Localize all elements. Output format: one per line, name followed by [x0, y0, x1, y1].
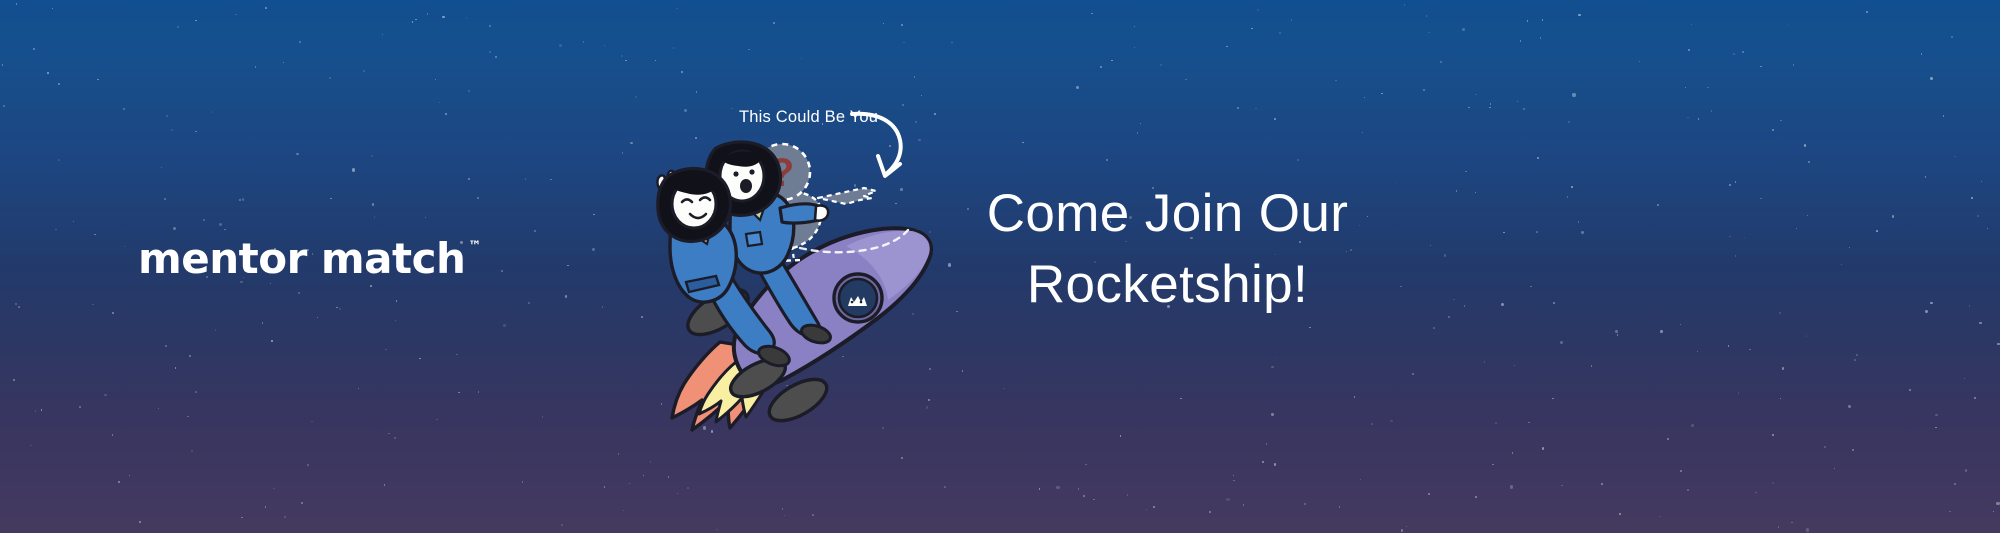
star-dot: [1780, 120, 1782, 122]
star-dot: [1146, 509, 1148, 511]
star-dot: [445, 113, 447, 115]
star-dot: [1572, 93, 1575, 96]
star-dot: [1639, 61, 1641, 63]
star-dot: [1729, 184, 1731, 186]
star-dot: [224, 229, 226, 231]
star-dot: [812, 514, 814, 516]
star-dot: [635, 96, 637, 98]
star-dot: [1484, 361, 1486, 363]
star-dot: [1921, 53, 1923, 55]
headline-line-2: Rocketship!: [905, 249, 1430, 320]
star-dot: [677, 493, 679, 495]
star-dot: [35, 410, 37, 412]
page-title: Come Join Our Rocketship!: [905, 178, 1430, 320]
star-dot: [296, 153, 298, 155]
star-dot: [883, 23, 885, 25]
star-dot: [1688, 49, 1690, 51]
star-dot: [1309, 327, 1311, 329]
star-dot: [1085, 464, 1087, 466]
star-dot: [58, 83, 60, 85]
star-dot: [565, 295, 567, 297]
star-dot: [1056, 486, 1059, 489]
star-dot: [1520, 40, 1522, 42]
star-dot: [371, 155, 373, 157]
star-dot: [1489, 107, 1491, 109]
star-dot: [97, 79, 99, 81]
star-dot: [187, 416, 189, 418]
star-dot: [1733, 53, 1735, 55]
star-dot: [1255, 108, 1257, 110]
star-dot: [1804, 144, 1806, 146]
star-dot: [189, 355, 191, 357]
star-dot: [1448, 316, 1450, 318]
star-dot: [468, 90, 470, 92]
star-dot: [1134, 26, 1136, 28]
star-dot: [1977, 215, 1979, 217]
star-dot: [382, 34, 384, 36]
star-dot: [1782, 367, 1784, 369]
star-dot: [1339, 506, 1341, 508]
star-dot: [696, 91, 698, 93]
star-dot: [242, 198, 244, 200]
star-dot: [1687, 489, 1689, 491]
star-dot: [668, 476, 670, 478]
star-dot: [298, 292, 300, 294]
star-dot: [1257, 9, 1259, 11]
star-dot: [299, 41, 301, 43]
star-dot: [1791, 522, 1793, 524]
star-dot: [1954, 483, 1956, 485]
star-dot: [1185, 79, 1187, 81]
star-dot: [1738, 392, 1740, 394]
star-dot: [1735, 181, 1737, 183]
trademark-symbol: ™: [468, 240, 481, 253]
star-dot: [370, 285, 372, 287]
star-dot: [329, 77, 331, 79]
callout-arrow-icon: [848, 108, 938, 184]
star-dot: [203, 219, 205, 221]
star-dot: [1475, 496, 1477, 498]
star-dot: [301, 502, 303, 504]
star-dot: [1735, 255, 1737, 257]
star-dot: [784, 515, 786, 517]
star-dot: [336, 307, 338, 309]
star-dot: [567, 265, 569, 267]
star-dot: [41, 409, 43, 411]
star-dot: [773, 22, 775, 24]
star-dot: [1866, 11, 1868, 13]
star-dot: [1567, 196, 1569, 198]
star-dot: [1540, 37, 1542, 39]
star-dot: [1974, 397, 1976, 399]
star-dot: [171, 129, 173, 131]
star-dot: [592, 248, 595, 251]
star-dot: [1935, 427, 1937, 429]
star-dot: [914, 76, 916, 78]
star-dot: [1615, 330, 1618, 333]
star-dot: [1909, 389, 1911, 391]
star-dot: [1617, 334, 1619, 336]
star-dot: [1528, 422, 1530, 424]
star-dot: [339, 308, 341, 310]
star-dot: [1233, 480, 1235, 482]
star-dot: [92, 304, 94, 306]
star-dot: [124, 246, 126, 248]
star-dot: [1279, 32, 1281, 34]
star-dot: [477, 197, 479, 199]
star-dot: [1930, 302, 1932, 304]
star-dot: [1262, 461, 1264, 463]
star-dot: [1354, 396, 1356, 398]
star-dot: [1537, 157, 1539, 159]
star-dot: [748, 49, 750, 51]
star-dot: [1390, 420, 1392, 422]
star-dot: [1935, 414, 1937, 416]
star-dot: [618, 453, 620, 455]
star-dot: [495, 56, 497, 58]
star-dot: [265, 7, 267, 9]
star-dot: [1536, 231, 1538, 233]
star-dot: [1578, 221, 1580, 223]
star-dot: [419, 358, 421, 360]
star-dot: [1925, 176, 1927, 178]
star-dot: [1514, 365, 1516, 367]
star-dot: [58, 159, 60, 161]
star-dot: [1003, 388, 1005, 390]
star-dot: [623, 510, 625, 512]
star-dot: [1560, 341, 1563, 344]
star-dot: [1078, 488, 1080, 490]
brand-logo[interactable]: mentor match ™: [138, 238, 481, 280]
star-dot: [901, 457, 903, 459]
star-dot: [641, 316, 643, 318]
star-dot: [139, 521, 141, 523]
star-dot: [1226, 46, 1228, 48]
star-dot: [1360, 479, 1362, 481]
star-dot: [1729, 236, 1731, 238]
star-dot: [104, 394, 106, 396]
star-dot: [1698, 118, 1700, 120]
star-dot: [1274, 463, 1276, 465]
star-dot: [1824, 446, 1826, 448]
star-dot: [1517, 101, 1519, 103]
star-dot: [1997, 343, 1999, 345]
star-dot: [123, 108, 125, 110]
star-dot: [489, 25, 491, 27]
star-dot: [1371, 423, 1373, 425]
star-dot: [525, 178, 527, 180]
star-dot: [1100, 66, 1102, 68]
star-dot: [1568, 121, 1570, 123]
star-dot: [1964, 378, 1966, 380]
star-dot: [801, 58, 803, 60]
star-dot: [352, 168, 355, 171]
star-dot: [1490, 103, 1492, 105]
star-dot: [1111, 60, 1113, 62]
star-dot: [534, 230, 536, 232]
star-dot: [439, 102, 441, 104]
star-dot: [1153, 506, 1155, 508]
star-dot: [629, 483, 631, 485]
star-dot: [18, 306, 20, 308]
star-dot: [215, 329, 217, 331]
star-dot: [1552, 398, 1554, 400]
star-dot: [1271, 366, 1273, 368]
star-dot: [118, 481, 120, 483]
star-dot: [1581, 231, 1584, 234]
star-dot: [1778, 526, 1780, 528]
rocket-porthole: [834, 274, 882, 322]
star-dot: [921, 95, 923, 97]
star-dot: [1304, 503, 1306, 505]
hero-banner: mentor match ™: [0, 0, 2000, 533]
star-dot: [1601, 483, 1603, 485]
star-dot: [273, 488, 275, 490]
star-dot: [1971, 197, 1973, 199]
star-dot: [2, 64, 4, 66]
star-dot: [55, 229, 57, 231]
star-dot: [1553, 302, 1555, 304]
star-dot: [583, 41, 585, 43]
star-dot: [1530, 286, 1532, 288]
star-dot: [1276, 357, 1278, 359]
star-dot: [1854, 359, 1856, 361]
star-dot: [1808, 161, 1810, 163]
star-dot: [1954, 156, 1956, 158]
star-dot: [643, 475, 645, 477]
star-dot: [1787, 24, 1789, 26]
star-dot: [1456, 190, 1458, 192]
star-dot: [1711, 110, 1713, 112]
star-dot: [177, 26, 179, 28]
star-dot: [602, 306, 604, 308]
star-dot: [363, 70, 365, 72]
star-dot: [1856, 354, 1858, 356]
star-dot: [1755, 492, 1757, 494]
star-dot: [435, 79, 437, 81]
star-dot: [1728, 345, 1730, 347]
star-dot: [501, 270, 503, 272]
star-dot: [1965, 469, 1967, 471]
star-dot: [239, 199, 241, 201]
star-dot: [716, 529, 718, 531]
star-dot: [1760, 66, 1762, 68]
star-dot: [503, 324, 505, 326]
star-dot: [384, 484, 386, 486]
star-dot: [374, 216, 376, 218]
star-dot: [436, 419, 438, 421]
star-dot: [681, 71, 683, 73]
star-dot: [489, 51, 491, 53]
star-dot: [1430, 245, 1432, 247]
star-dot: [456, 354, 458, 356]
star-dot: [73, 221, 75, 223]
star-dot: [442, 16, 444, 18]
star-dot: [270, 283, 272, 285]
star-dot: [1462, 28, 1465, 31]
star-dot: [1209, 511, 1211, 513]
star-dot: [1362, 132, 1364, 134]
star-dot: [112, 434, 114, 436]
star-dot: [1680, 324, 1682, 326]
logo-wordmark: mentor match: [138, 238, 465, 280]
star-dot: [1925, 310, 1928, 313]
star-dot: [1091, 13, 1093, 15]
star-dot: [1806, 528, 1809, 531]
star-dot: [13, 379, 15, 381]
star-dot: [1140, 123, 1142, 125]
star-dot: [1475, 192, 1477, 194]
star-dot: [561, 524, 563, 526]
star-dot: [1464, 305, 1466, 307]
star-dot: [1453, 299, 1455, 301]
star-dot: [1226, 498, 1229, 501]
star-dot: [212, 111, 214, 113]
star-dot: [255, 66, 257, 68]
star-dot: [385, 349, 387, 351]
star-dot: [625, 60, 627, 62]
star-dot: [1993, 511, 1995, 513]
star-dot: [1291, 19, 1293, 21]
star-dot: [1793, 64, 1795, 66]
star-dot: [427, 13, 429, 15]
star-dot: [1749, 349, 1751, 351]
star-dot: [1772, 482, 1774, 484]
star-dot: [161, 167, 163, 169]
star-dot: [307, 464, 309, 466]
star-dot: [622, 152, 624, 154]
star-dot: [1707, 87, 1709, 89]
star-dot: [593, 214, 595, 216]
star-dot: [1780, 398, 1782, 400]
star-dot: [1243, 504, 1245, 506]
star-dot: [1426, 15, 1428, 17]
star-dot: [1134, 47, 1136, 49]
star-dot: [388, 433, 390, 435]
star-dot: [528, 302, 530, 304]
star-dot: [191, 450, 193, 452]
star-dot: [542, 416, 544, 418]
star-dot: [468, 178, 470, 180]
star-dot: [1619, 513, 1621, 515]
star-dot: [1578, 14, 1580, 16]
star-dot: [902, 104, 904, 106]
star-dot: [1591, 365, 1593, 367]
star-dot: [673, 47, 675, 49]
star-dot: [30, 445, 32, 447]
star-dot: [1444, 254, 1446, 256]
star-dot: [52, 8, 54, 10]
star-dot: [1039, 488, 1041, 490]
star-dot: [1660, 330, 1663, 333]
star-dot: [94, 234, 96, 236]
star-dot: [330, 198, 332, 200]
star-dot: [311, 421, 313, 423]
star-dot: [478, 391, 480, 393]
star-dot: [394, 437, 396, 439]
star-dot: [1796, 228, 1798, 230]
star-dot: [1834, 468, 1836, 470]
star-dot: [1691, 24, 1693, 26]
star-dot: [1401, 529, 1403, 531]
star-dot: [1527, 20, 1529, 22]
star-dot: [1364, 97, 1366, 99]
star-dot: [621, 55, 623, 57]
star-dot: [271, 340, 273, 342]
star-dot: [317, 317, 319, 319]
star-dot: [1979, 322, 1981, 324]
star-dot: [1468, 107, 1470, 109]
star-dot: [1106, 159, 1108, 161]
star-dot: [284, 516, 286, 518]
star-dot: [1848, 405, 1851, 408]
star-dot: [1779, 312, 1781, 314]
star-dot: [33, 48, 35, 50]
star-dot: [1852, 449, 1854, 451]
star-dot: [396, 300, 398, 302]
star-dot: [112, 312, 114, 314]
star-dot: [1949, 511, 1951, 513]
star-dot: [1687, 117, 1689, 119]
star-dot: [1160, 64, 1162, 66]
star-dot: [1523, 108, 1525, 110]
star-dot: [1667, 438, 1669, 440]
star-dot: [1981, 181, 1983, 183]
star-dot: [1137, 132, 1139, 134]
star-dot: [235, 14, 237, 16]
star-dot: [1512, 452, 1514, 454]
star-dot: [782, 508, 784, 510]
star-dot: [1233, 475, 1235, 477]
star-dot: [1744, 237, 1746, 239]
star-dot: [1266, 443, 1268, 445]
star-dot: [265, 506, 267, 508]
star-dot: [165, 345, 167, 347]
star-dot: [1501, 303, 1504, 306]
star-dot: [1951, 36, 1953, 38]
star-dot: [604, 45, 606, 47]
star-dot: [1428, 493, 1430, 495]
star-dot: [425, 217, 427, 219]
star-dot: [164, 198, 166, 200]
star-dot: [903, 42, 905, 44]
star-dot: [1849, 247, 1851, 249]
star-dot: [1180, 398, 1182, 400]
star-dot: [1022, 142, 1024, 144]
star-dot: [1987, 228, 1989, 230]
star-dot: [522, 481, 524, 483]
star-dot: [412, 21, 414, 23]
star-dot: [1237, 107, 1239, 109]
star-dot: [1691, 424, 1694, 427]
star-dot: [1297, 159, 1299, 161]
star-dot: [1406, 526, 1408, 528]
star-dot: [1271, 413, 1274, 416]
star-dot: [1076, 86, 1079, 89]
star-dot: [1760, 198, 1762, 200]
star-dot: [901, 24, 903, 26]
star-dot: [731, 108, 733, 110]
star-dot: [1542, 447, 1544, 449]
star-dot: [372, 203, 374, 205]
star-dot: [466, 17, 468, 19]
star-dot: [1475, 94, 1477, 96]
star-dot: [1657, 204, 1659, 206]
star-dot: [1492, 464, 1494, 466]
star-dot: [1772, 434, 1774, 436]
star-dot: [129, 475, 131, 477]
star-dot: [655, 60, 657, 62]
